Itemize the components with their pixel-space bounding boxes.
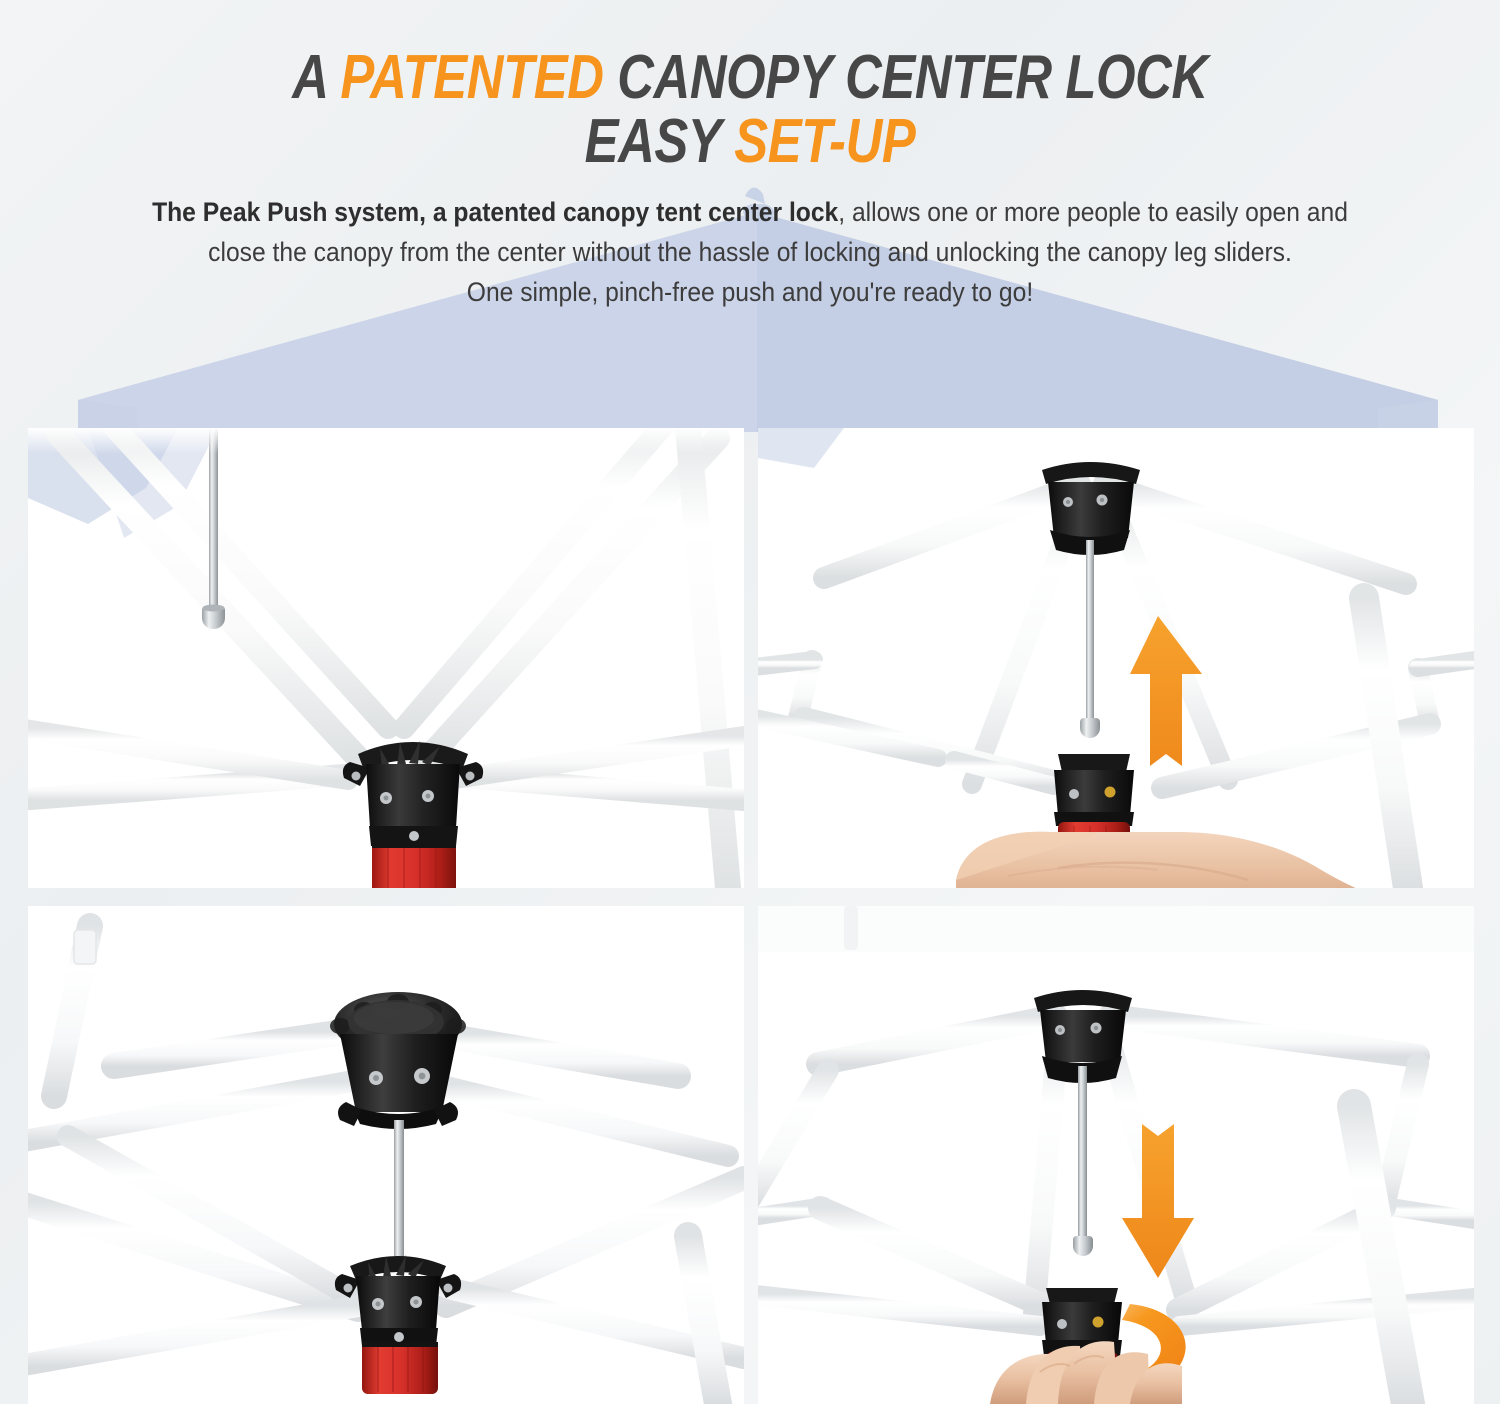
panel-bottom-left [28, 906, 744, 1404]
body-line-4: One simple, pinch-free push and you're r… [467, 277, 1033, 307]
title-line-1: A PATENTED CANOPY CENTER LOCK [135, 46, 1365, 110]
body-bold-lead: The Peak Push system, a patented canopy … [152, 197, 838, 227]
header: A PATENTED CANOPY CENTER LOCK EASY SET-U… [0, 0, 1500, 312]
panel-top-right [758, 428, 1474, 888]
title-word-setup: SET-UP [734, 107, 915, 176]
title-word-rest: CANOPY CENTER LOCK [604, 43, 1208, 112]
photo-grid [0, 428, 1500, 1404]
page-title: A PATENTED CANOPY CENTER LOCK EASY SET-U… [0, 0, 1500, 174]
title-word-patented: PATENTED [340, 43, 603, 112]
infographic-page: A PATENTED CANOPY CENTER LOCK EASY SET-U… [0, 0, 1500, 1404]
panel-bottom-right [758, 906, 1474, 1404]
title-word-easy: EASY [585, 107, 735, 176]
panel-top-left [28, 428, 744, 888]
body-description: The Peak Push system, a patented canopy … [141, 192, 1359, 312]
title-word-a: A [292, 43, 340, 112]
title-line-2: EASY SET-UP [135, 110, 1365, 174]
